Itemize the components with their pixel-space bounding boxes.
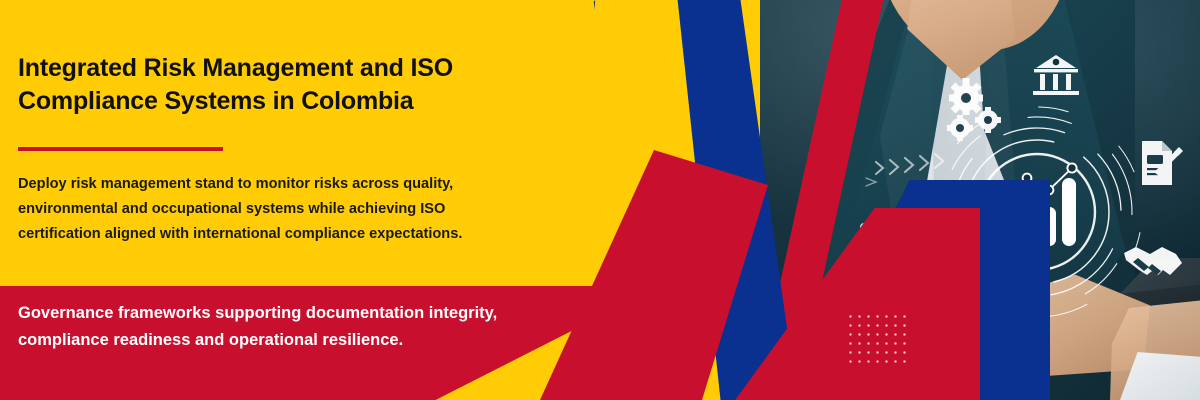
page-title: Integrated Risk Management and ISO Compl…	[18, 52, 538, 118]
title-divider	[18, 147, 223, 151]
footer-statement: Governance frameworks supporting documen…	[18, 300, 538, 353]
promotional-banner: Integrated Risk Management and ISO Compl…	[0, 0, 1200, 400]
body-description: Deploy risk management stand to monitor …	[18, 172, 488, 247]
banner-content: Integrated Risk Management and ISO Compl…	[0, 0, 1200, 400]
